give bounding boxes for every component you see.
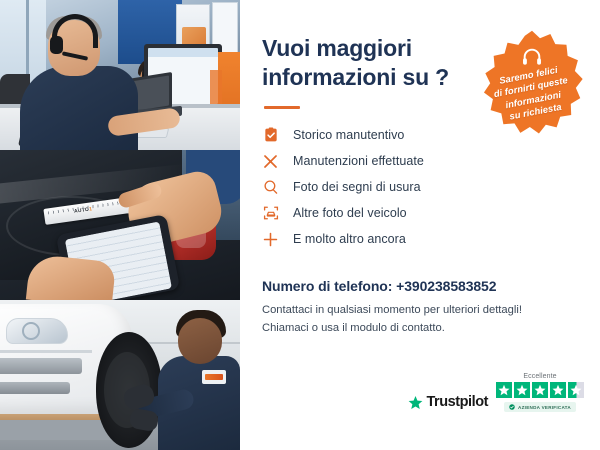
clipboard-check-icon bbox=[262, 127, 279, 144]
clipboard-check-glyph bbox=[263, 127, 279, 143]
photo-column: AUTO1 bbox=[0, 0, 240, 450]
agent-one-headset-earcup bbox=[50, 36, 63, 54]
headline-line-1: Vuoi maggiori bbox=[262, 35, 412, 61]
search-magnifier-icon bbox=[262, 179, 279, 196]
contact-block: Numero di telefono: +390238583852 Contat… bbox=[262, 278, 578, 337]
trustpilot-logo: Trustpilot bbox=[408, 394, 488, 412]
agent-one-body bbox=[20, 66, 138, 150]
headlight-projector-ring bbox=[22, 322, 40, 340]
verified-company-badge: AZIENDA VERIFICATA bbox=[504, 402, 576, 412]
trustpilot-rating[interactable]: Trustpilot Eccellente AZIENDA VERIFICA bbox=[408, 373, 584, 412]
contact-text-line-1: Contattaci in qualsiasi momento per ulte… bbox=[262, 304, 522, 316]
headset-icon bbox=[521, 46, 543, 68]
star-glyph bbox=[498, 384, 510, 396]
photo-mechanic-working-on-white-car-wheel bbox=[0, 300, 240, 450]
contact-text-line-2: Chiamaci o usa il modulo di contatto. bbox=[262, 322, 445, 334]
verified-company-label: AZIENDA VERIFICATA bbox=[518, 405, 571, 410]
phone-line: Numero di telefono: +390238583852 bbox=[262, 278, 578, 294]
feature-label: Foto dei segni di usura bbox=[293, 180, 421, 194]
star-glyph bbox=[534, 384, 546, 396]
tools-wrench-screwdriver-icon bbox=[262, 153, 279, 170]
tools-glyph bbox=[262, 153, 279, 170]
trustpilot-wordmark: Trustpilot bbox=[426, 394, 488, 410]
feature-label: E molto altro ancora bbox=[293, 232, 406, 246]
feature-label: Manutenzioni effettuate bbox=[293, 154, 424, 168]
trustpilot-score-block: Eccellente AZIENDA VERIFICATA bbox=[496, 373, 584, 412]
feature-label: Altre foto del veicolo bbox=[293, 206, 407, 220]
trustpilot-rating-label: Eccellente bbox=[523, 373, 556, 380]
trustpilot-star-icon bbox=[408, 395, 423, 410]
list-item: E molto altro ancora bbox=[262, 226, 578, 252]
photo-call-center-agents-with-headsets bbox=[0, 0, 240, 150]
trustpilot-star-box bbox=[514, 382, 530, 398]
feature-label: Storico manutentivo bbox=[293, 128, 404, 142]
star-glyph bbox=[552, 384, 564, 396]
trustpilot-star-box bbox=[532, 382, 548, 398]
trustpilot-stars bbox=[496, 382, 584, 398]
page-title: Vuoi maggiori informazioni su ? bbox=[262, 34, 472, 92]
callout-starburst-badge: Saremo felici di fornirti queste informa… bbox=[478, 28, 586, 136]
star-glyph bbox=[516, 384, 528, 396]
title-divider bbox=[264, 106, 300, 109]
photo-vehicle-bumper-inspection-with-ruler: AUTO1 bbox=[0, 150, 240, 300]
trustpilot-star-box bbox=[550, 382, 566, 398]
phone-label: Numero di telefono: bbox=[262, 278, 392, 294]
ruler-brand-label: AUTO1 bbox=[74, 206, 93, 214]
list-item: Manutenzioni effettuate bbox=[262, 148, 578, 174]
headline-line-2: informazioni su ? bbox=[262, 64, 449, 90]
promo-banner: AUTO1 bbox=[0, 0, 600, 450]
car-scan-glyph bbox=[263, 205, 279, 221]
feature-list: Storico manutentivo Manutenzioni effettu… bbox=[262, 122, 578, 252]
phone-number[interactable]: +390238583852 bbox=[396, 278, 496, 294]
star-glyph bbox=[570, 384, 582, 396]
list-item: Altre foto del veicolo bbox=[262, 200, 578, 226]
magnifier-glyph bbox=[263, 179, 279, 195]
contact-description: Contattaci in qualsiasi momento per ulte… bbox=[262, 302, 578, 337]
plus-icon bbox=[262, 231, 279, 248]
car-scan-frame-icon bbox=[262, 205, 279, 222]
content-panel: Vuoi maggiori informazioni su ? Saremo f… bbox=[240, 0, 600, 450]
list-item: Foto dei segni di usura bbox=[262, 174, 578, 200]
mechanic-head bbox=[178, 318, 222, 364]
verified-check-icon bbox=[509, 404, 515, 410]
plus-glyph bbox=[262, 231, 279, 248]
car-grille-upper bbox=[0, 358, 82, 374]
car-chrome-trim bbox=[0, 350, 92, 353]
mechanic-uniform-badge bbox=[202, 370, 226, 384]
trustpilot-star-box bbox=[496, 382, 512, 398]
car-grille-lower bbox=[0, 382, 70, 394]
trustpilot-star-box-half bbox=[568, 382, 584, 398]
